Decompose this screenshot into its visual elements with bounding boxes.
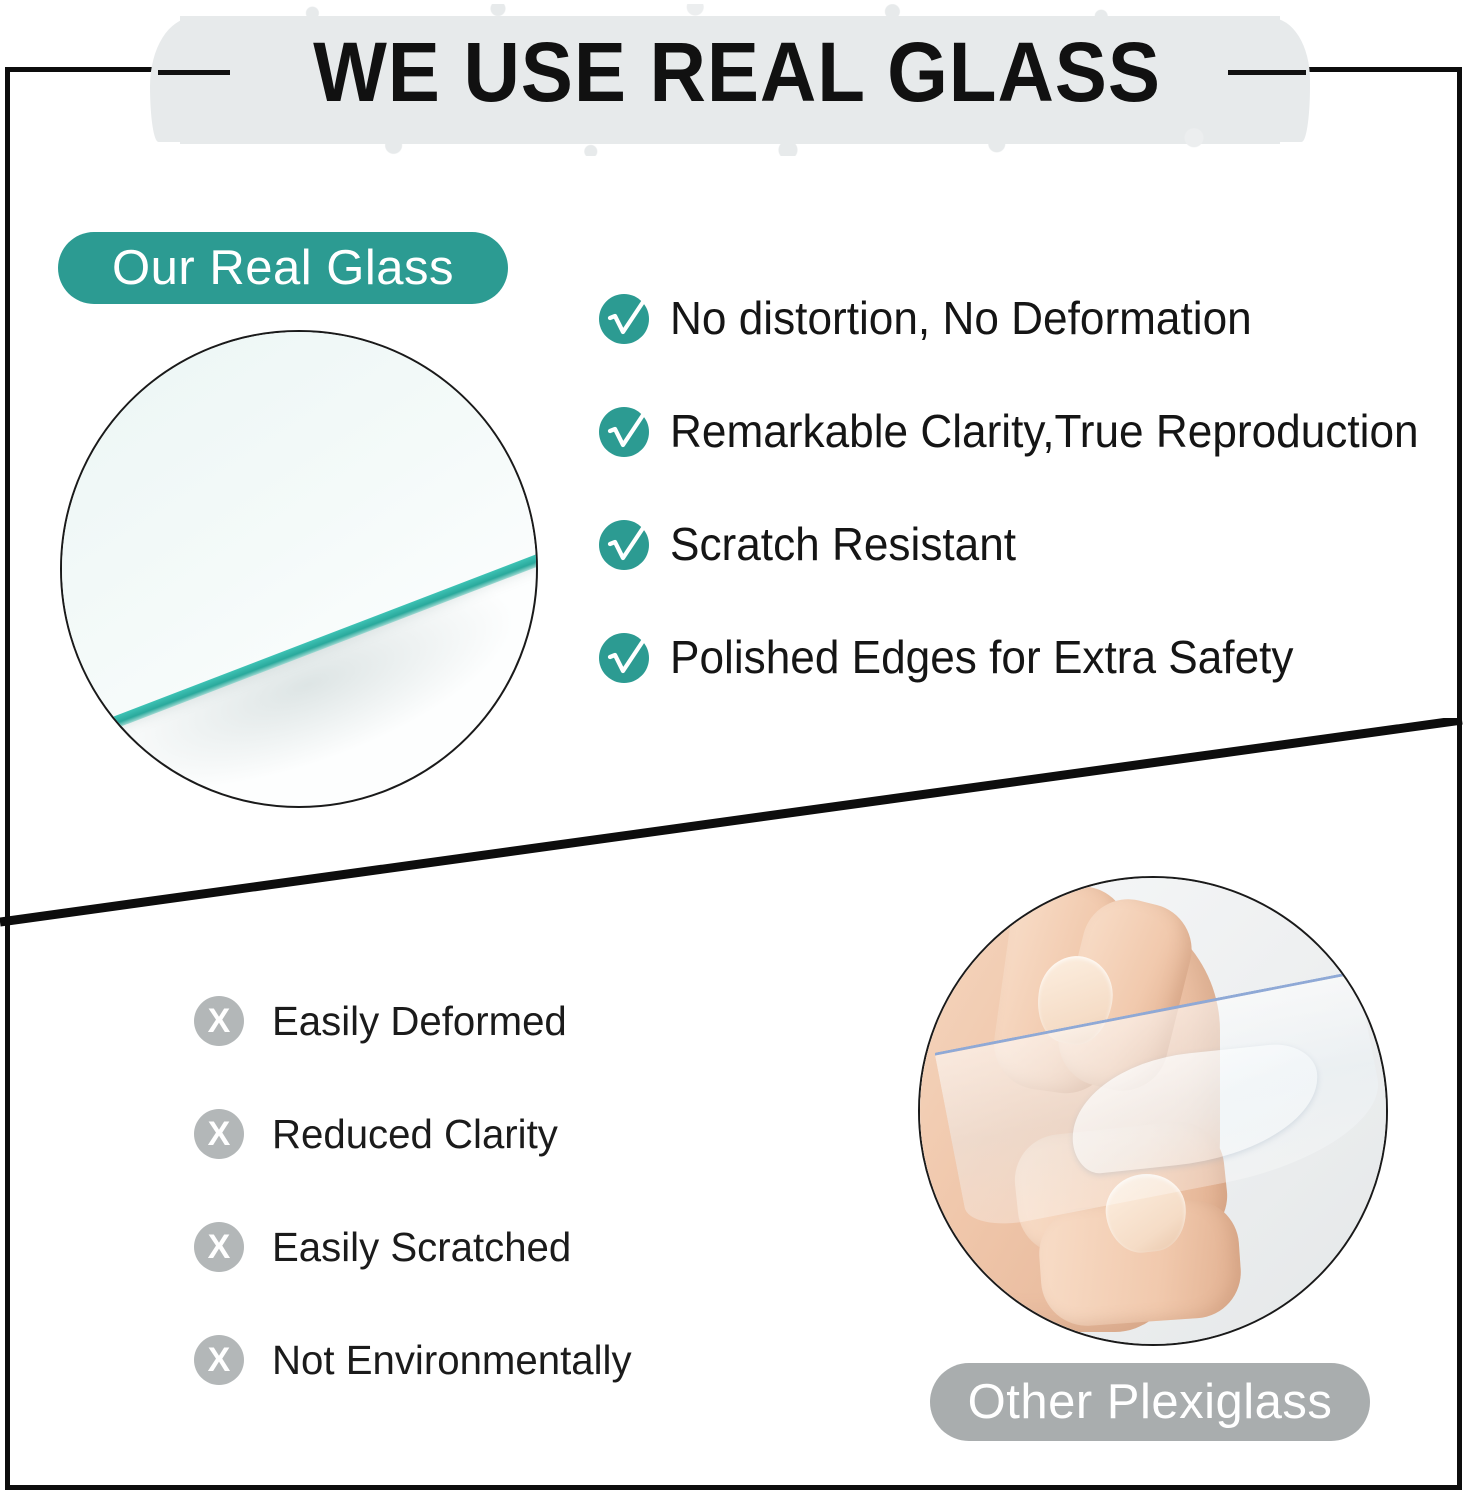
badge-our-real-glass-label: Our Real Glass	[112, 240, 454, 296]
x-icon: X	[194, 996, 244, 1046]
photo-real-glass	[60, 330, 538, 808]
list-item: Scratch Resistant	[598, 518, 1450, 570]
infographic-canvas: WE USE REAL GLASS Our Real Glass No dist…	[0, 0, 1474, 1500]
check-icon	[598, 630, 652, 684]
check-icon	[598, 404, 652, 458]
photo-plexiglass	[918, 876, 1388, 1346]
list-item-label: Reduced Clarity	[272, 1111, 558, 1158]
cons-list: X Easily Deformed X Reduced Clarity X Ea…	[194, 996, 639, 1448]
list-item: X Easily Deformed	[194, 996, 639, 1046]
list-item-label: Not Environmentally	[272, 1337, 632, 1384]
list-item: X Not Environmentally	[194, 1335, 639, 1385]
list-item-label: Polished Edges for Extra Safety	[670, 630, 1293, 684]
list-item-label: Easily Scratched	[272, 1224, 571, 1271]
list-item: X Reduced Clarity	[194, 1109, 639, 1159]
badge-our-real-glass: Our Real Glass	[58, 232, 508, 304]
x-icon-glyph: X	[208, 1117, 231, 1151]
x-icon-glyph: X	[208, 1343, 231, 1377]
x-icon: X	[194, 1222, 244, 1272]
list-item: No distortion, No Deformation	[598, 292, 1450, 344]
list-item: Remarkable Clarity,True Reproduction	[598, 405, 1450, 457]
list-item-label: No distortion, No Deformation	[670, 291, 1252, 345]
check-icon	[598, 291, 652, 345]
pros-list: No distortion, No Deformation Remarkable…	[598, 292, 1450, 744]
list-item-label: Remarkable Clarity,True Reproduction	[670, 404, 1419, 458]
badge-other-plexiglass-label: Other Plexiglass	[968, 1374, 1333, 1430]
check-icon	[598, 517, 652, 571]
x-icon-glyph: X	[208, 1004, 231, 1038]
list-item-label: Scratch Resistant	[670, 517, 1016, 571]
page-title: WE USE REAL GLASS	[52, 24, 1423, 121]
list-item-label: Easily Deformed	[272, 998, 567, 1045]
list-item: Polished Edges for Extra Safety	[598, 631, 1450, 683]
badge-other-plexiglass: Other Plexiglass	[930, 1363, 1370, 1441]
x-icon: X	[194, 1335, 244, 1385]
list-item: X Easily Scratched	[194, 1222, 639, 1272]
x-icon: X	[194, 1109, 244, 1159]
x-icon-glyph: X	[208, 1230, 231, 1264]
